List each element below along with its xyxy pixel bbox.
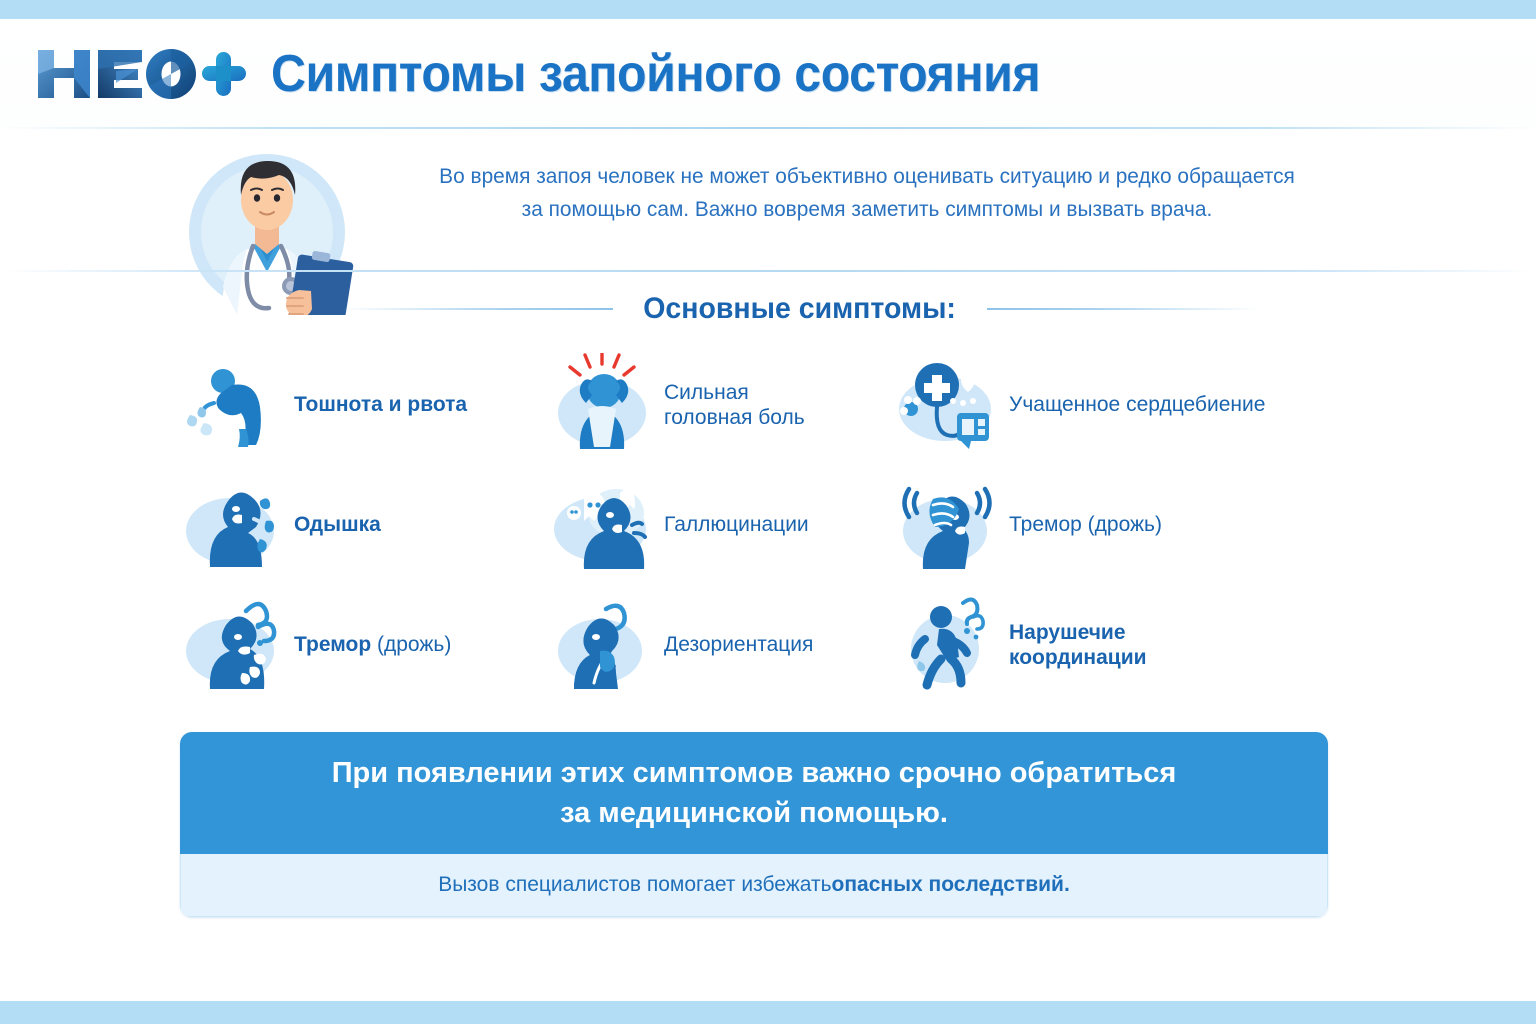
callout-line-2: за медицинской помощью. [560,793,948,833]
symptom-label: Нарушечие координации [1009,620,1147,670]
symptom-label: Тремор (дрожь) [1009,512,1162,537]
shortness-of-breath-icon [180,473,284,577]
symptom-label-line1: Сильная [664,381,749,404]
intro-section: Во время запоя человек не может объектив… [0,140,1536,258]
doctor-illustration-icon [175,140,365,315]
symptom-label: Одышка [294,512,381,537]
symptom-label: Галлюцинации [664,512,809,537]
callout-main-text: При появлении этих симптомов важно срочн… [180,732,1328,854]
intro-line-2: за помощью сам. Важно вовремя заметить с… [392,193,1343,226]
symptom-item: Одышка [180,473,550,577]
tremor-head-shake-icon [895,473,999,577]
infographic-page: Симптомы запойного состояния [0,0,1536,1024]
bottom-accent-bar [0,1001,1536,1024]
heart-monitor-icon [895,353,999,457]
coordination-walk-icon [895,593,999,697]
symptom-label: Тошнота и рвота [294,392,467,417]
symptom-item: Тремор (дрожь) [895,473,1325,577]
symptom-item: Тошнота и рвота [180,353,550,457]
symptom-label-line1: Нарушечие [1009,621,1126,644]
header: Симптомы запойного состояния [0,19,1536,128]
symptom-item: Нарушечие координации [895,593,1325,697]
section-heading: Основные симптомы: [340,292,1260,326]
symptom-item: Дезориентация [550,593,895,697]
symptom-label: Учащенное сердцебиение [1009,392,1265,417]
symptom-label-line2: координации [1009,646,1147,669]
symptom-grid: Тошнота и рвота Сильная головная боль [180,345,1340,705]
symptom-item: Учащенное сердцебиение [895,353,1325,457]
page-title: Симптомы запойного состояния [271,44,1040,104]
callout-sub-prefix: Вызов специалистов помогает избежать [438,873,831,897]
header-divider [0,127,1536,129]
callout-line-1: При появлении этих симптомов важно срочн… [332,753,1177,793]
top-accent-bar [0,0,1536,19]
symptom-item: Тремор (дрожь) [180,593,550,697]
symptom-item: Галлюцинации [550,473,895,577]
intro-divider [0,270,1536,272]
symptom-label: Дезориентация [664,632,813,657]
symptom-label: Тремор (дрожь) [294,632,451,657]
symptom-label: Сильная головная боль [664,380,805,430]
section-heading-label: Основные симптомы: [644,292,957,326]
tremor-sweating-icon [180,593,284,697]
hallucination-ghost-icon [550,473,654,577]
heading-rule-right [987,308,1260,310]
intro-line-1: Во время запоя человек не может объектив… [392,160,1343,193]
symptom-item: Сильная головная боль [550,353,895,457]
callout-sub-emphasis: опасных последствий. [832,873,1070,897]
headache-person-icon [550,353,654,457]
vomiting-person-icon [180,353,284,457]
symptom-label-line2: головная боль [664,406,805,429]
neo-plus-logo-icon [34,44,249,104]
disorientation-icon [550,593,654,697]
heading-rule-left [340,308,613,310]
callout-box: При появлении этих симптомов важно срочн… [180,732,1328,917]
symptom-label-sub: (дрожь) [371,633,451,656]
symptom-label-main: Тремор [294,633,371,656]
intro-text: Во время запоя человек не может объектив… [392,160,1343,225]
callout-sub-text: Вызов специалистов помогает избежать опа… [180,854,1328,917]
